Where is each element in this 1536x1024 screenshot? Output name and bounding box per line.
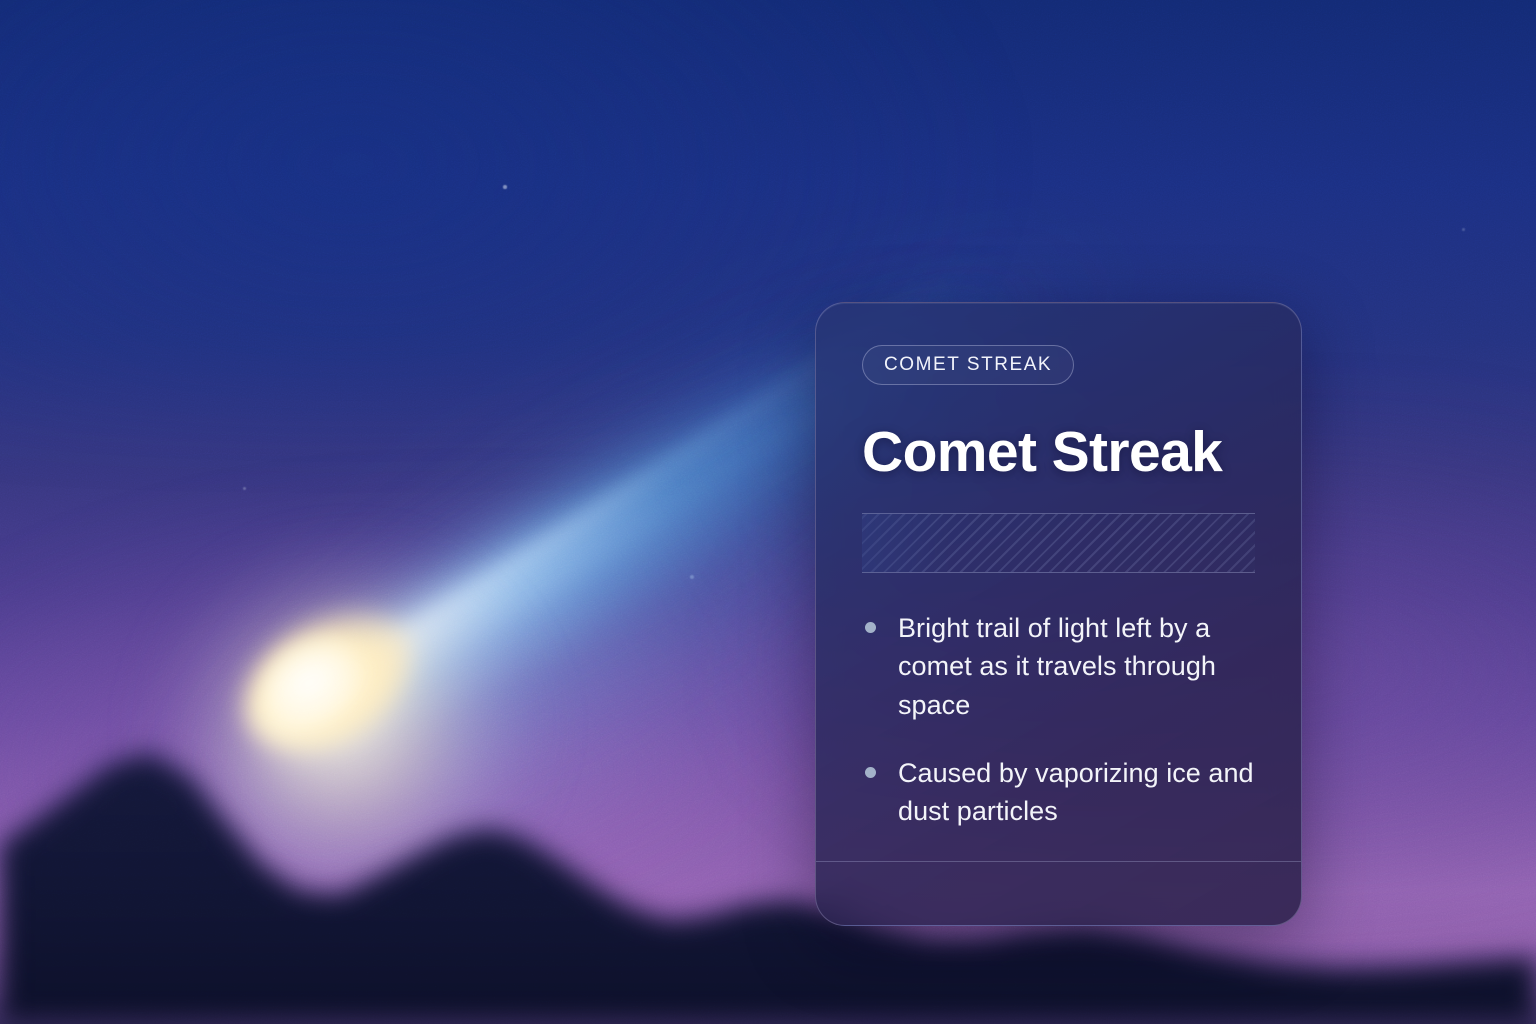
star-icon [1462, 228, 1465, 231]
star-icon [503, 185, 507, 189]
bullet-dot-icon [865, 767, 876, 778]
fact-list-item-text: Caused by vaporizing ice and dust partic… [898, 758, 1254, 826]
fact-list-item-text: Bright trail of light left by a comet as… [898, 613, 1216, 720]
fact-list: Bright trail of light left by a comet as… [862, 609, 1255, 831]
category-badge[interactable]: COMET STREAK [862, 345, 1074, 385]
info-card-body: COMET STREAK Comet Streak Bright trail o… [816, 303, 1301, 925]
bullet-dot-icon [865, 622, 876, 633]
card-title: Comet Streak [862, 423, 1255, 483]
mountain-silhouette [0, 724, 1536, 1024]
fact-list-item: Bright trail of light left by a comet as… [862, 609, 1255, 724]
card-footer-divider [816, 861, 1301, 862]
comet-streak-scene: COMET STREAK Comet Streak Bright trail o… [0, 0, 1536, 1024]
star-icon [243, 487, 246, 490]
info-card: COMET STREAK Comet Streak Bright trail o… [815, 302, 1302, 926]
fact-list-item: Caused by vaporizing ice and dust partic… [862, 754, 1255, 831]
hatched-divider [862, 513, 1255, 573]
star-icon [690, 575, 694, 579]
